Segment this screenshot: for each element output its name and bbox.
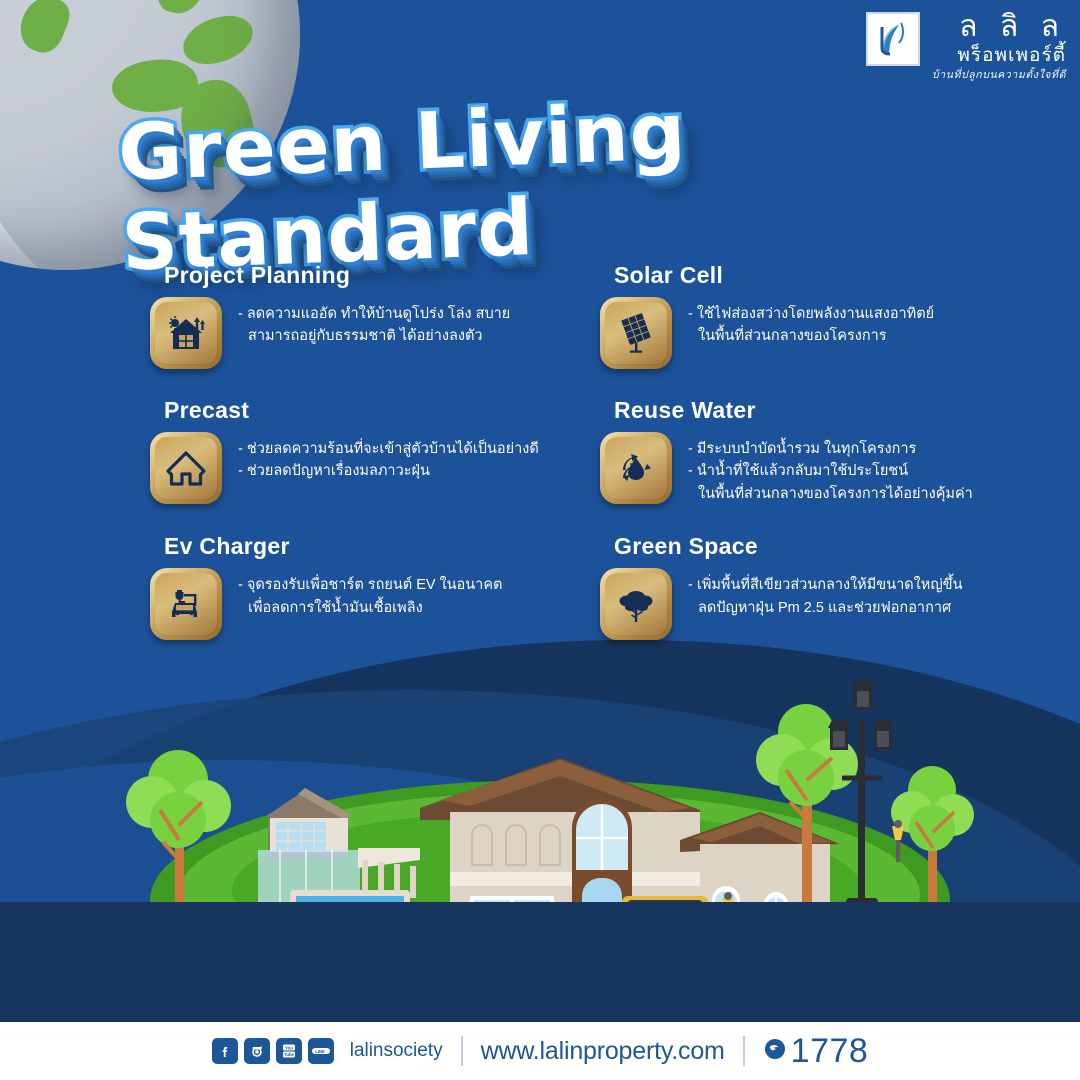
svg-text:You: You	[285, 1045, 293, 1050]
feature-heading: Ev Charger	[164, 533, 600, 560]
line-icon[interactable]: LINE	[308, 1038, 334, 1064]
feature-heading: Project Planning	[164, 262, 600, 289]
facebook-icon[interactable]	[212, 1038, 238, 1064]
svg-text:LINE: LINE	[315, 1049, 325, 1054]
instagram-icon[interactable]	[244, 1038, 270, 1064]
feature-line: ในพื้นที่ส่วนกลางของโครงการ	[688, 325, 934, 347]
street-lamp	[828, 680, 894, 910]
house-outline-icon	[150, 432, 222, 504]
feature-heading: Green Space	[614, 533, 1050, 560]
feature-heading: Solar Cell	[614, 262, 1050, 289]
feature-heading: Reuse Water	[614, 397, 1050, 424]
logo-name-line1: ล ลิ ล	[932, 12, 1066, 42]
feature-line: - ช่วยลดปัญหาเรื่องมลภาวะฝุ่น	[238, 460, 539, 482]
water-recycle-icon	[600, 432, 672, 504]
footer-divider	[743, 1036, 745, 1066]
feature-line: สามารถอยู่กับธรรมชาติ ได้อย่างลงตัว	[238, 325, 510, 347]
feature-line: ในพื้นที่ส่วนกลางของโครงการได้อย่างคุ้มค…	[688, 483, 973, 505]
feature-text: - ช่วยลดความร้อนที่จะเข้าสู่ตัวบ้านได้เป…	[238, 432, 539, 483]
feature-reuse-water: Reuse Water	[600, 397, 1050, 505]
footer-bar: You Tube LINE lalinsociety www.lalinprop…	[0, 1022, 1080, 1080]
house-with-sun-and-arrows-icon	[150, 297, 222, 369]
feature-text: - จุดรองรับเพื่อชาร์ต รถยนต์ EV ในอนาคต …	[238, 568, 502, 619]
social-handle[interactable]: lalinsociety	[350, 1040, 443, 1062]
footer-divider	[461, 1036, 463, 1066]
feature-text: - ใช้ไฟส่องสว่างโดยพลังงานแสงอาทิตย์ ในพ…	[688, 297, 934, 348]
feature-precast: Precast - ช่วยลดความร้อนที่จะเข้าสู่ตัวบ…	[150, 397, 600, 505]
page-title-text: Green Living Standard	[117, 75, 1003, 289]
phone-number: 1778	[791, 1032, 869, 1071]
feature-green-space: Green Space	[600, 533, 1050, 640]
solar-panel-icon	[600, 297, 672, 369]
feature-project-planning: Project Planning	[150, 262, 600, 369]
footer-dark-band	[0, 902, 1080, 1022]
lalin-leaf-l-logo-icon	[866, 12, 920, 66]
feature-ev-charger: Ev Charger	[150, 533, 600, 640]
feature-line: - จุดรองรับเพื่อชาร์ต รถยนต์ EV ในอนาคต	[238, 574, 502, 596]
feature-line: - ใช้ไฟส่องสว่างโดยพลังงานแสงอาทิตย์	[688, 303, 934, 325]
infographic-poster: ล ลิ ล พร็อพเพอร์ตี้ บ้านที่ปลูกบนความตั…	[0, 0, 1080, 1080]
feature-line: เพื่อลดการใช้น้ำมันเชื้อเพลิง	[238, 597, 502, 619]
feature-line: - เพิ่มพื้นที่สีเขียวส่วนกลางให้มีขนาดให…	[688, 574, 963, 596]
website-link[interactable]: www.lalinproperty.com	[481, 1037, 725, 1066]
feature-text: - มีระบบบำบัดน้ำรวม ในทุกโครงการ - นำน้ำ…	[688, 432, 973, 505]
phone-icon	[763, 1037, 787, 1066]
ev-car-charger-icon	[150, 568, 222, 640]
brand-logo[interactable]: ล ลิ ล พร็อพเพอร์ตี้ บ้านที่ปลูกบนความตั…	[866, 12, 1066, 81]
garden-light-3	[892, 820, 904, 862]
tree-left	[126, 750, 231, 920]
feature-line: - มีระบบบำบัดน้ำรวม ในทุกโครงการ	[688, 438, 973, 460]
phone-block[interactable]: 1778	[763, 1032, 869, 1071]
social-icons: You Tube LINE lalinsociety	[212, 1038, 443, 1064]
feature-line: - นำน้ำที่ใช้แล้วกลับมาใช้ประโยชน์	[688, 460, 973, 482]
feature-text: - เพิ่มพื้นที่สีเขียวส่วนกลางให้มีขนาดให…	[688, 568, 963, 619]
svg-text:Tube: Tube	[284, 1052, 294, 1057]
feature-text: - ลดความแออัด ทำให้บ้านดูโปร่ง โล่ง สบาย…	[238, 297, 510, 348]
feature-line: - ช่วยลดความร้อนที่จะเข้าสู่ตัวบ้านได้เป…	[238, 438, 539, 460]
youtube-icon[interactable]: You Tube	[276, 1038, 302, 1064]
feature-solar-cell: Solar Cell	[600, 262, 1050, 369]
feature-line: ลดปัญหาฝุ่น Pm 2.5 และช่วยฟอกอากาศ	[688, 597, 963, 619]
feature-heading: Precast	[164, 397, 600, 424]
feature-line: - ลดความแออัด ทำให้บ้านดูโปร่ง โล่ง สบาย	[238, 303, 510, 325]
logo-name-line2: พร็อพเพอร์ตี้	[932, 46, 1066, 65]
tree-icon	[600, 568, 672, 640]
feature-grid: Project Planning	[150, 262, 1050, 668]
